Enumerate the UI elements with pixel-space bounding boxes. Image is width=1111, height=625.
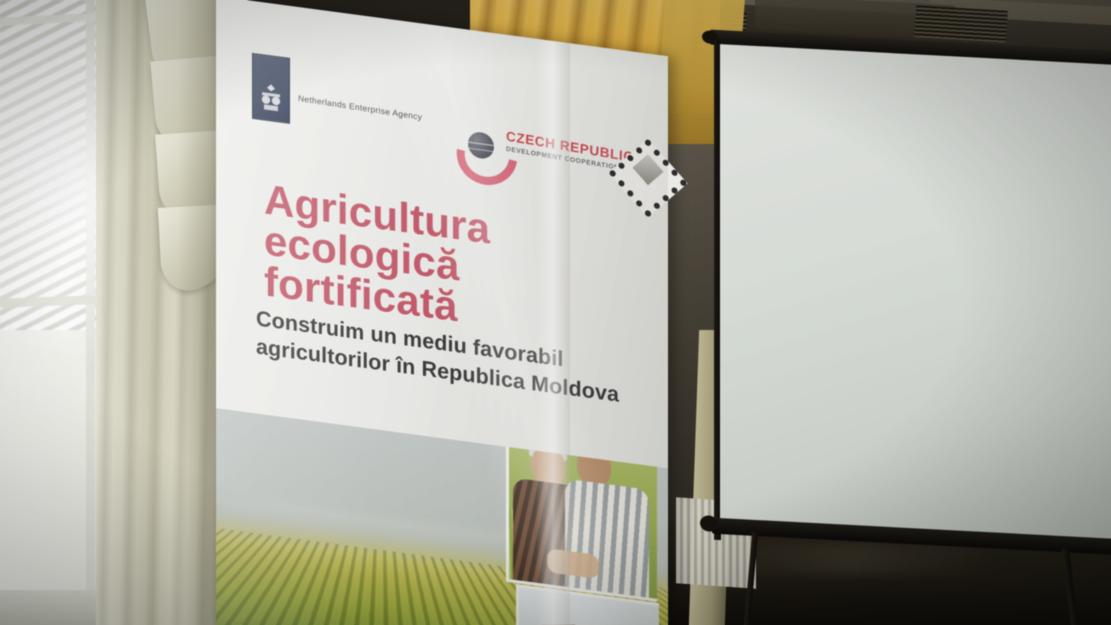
rollup-banner: Netherlands Enterprise Agency CZECH REPU… [216,0,668,625]
screen-surface [720,44,1111,541]
photo-scene: Netherlands Enterprise Agency CZECH REPU… [0,0,1111,625]
screen-end-cap [700,515,718,532]
projection-screen [718,30,1111,571]
banner-shading [216,0,668,625]
ceiling-vent-icon [914,5,1008,43]
